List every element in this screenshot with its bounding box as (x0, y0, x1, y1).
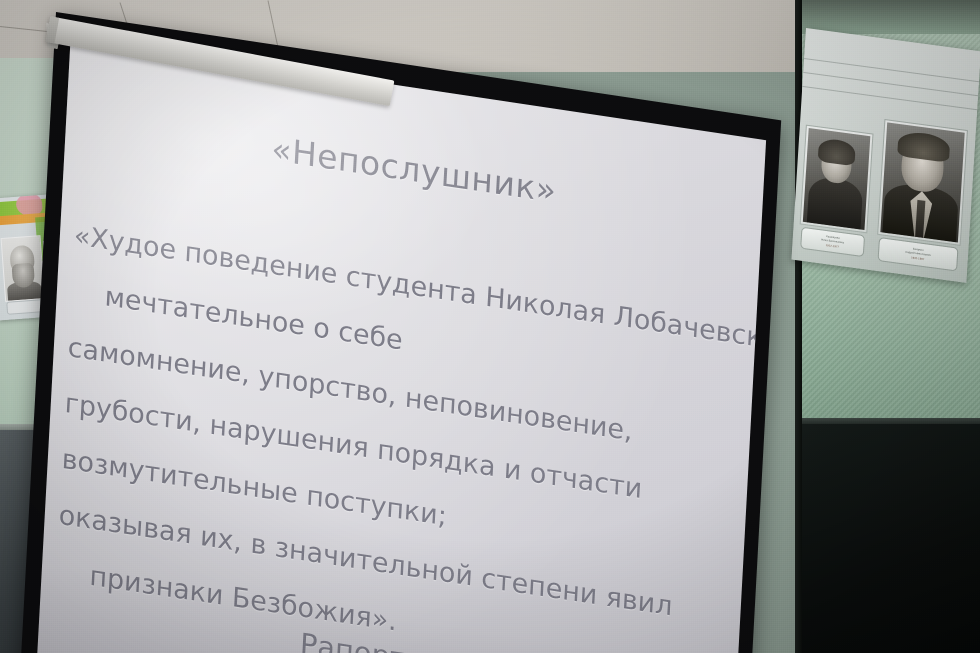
portrait-photo-man (880, 122, 964, 242)
board-groove (804, 58, 979, 82)
slide-body: «Худое поведение студента Николая Лобаче… (54, 208, 761, 653)
plaque-years: 1932-1987 (911, 256, 924, 261)
board-groove (802, 86, 977, 110)
portrait-frame-woman (800, 125, 874, 234)
portrait-frame-man (877, 119, 968, 246)
classroom-photo: Казанцева Нина Васильевна 1912-1977 Бояр… (0, 0, 980, 653)
portrait-hair (818, 137, 856, 166)
presentation-slide: «Непослушник» «Худое поведение студента … (34, 36, 766, 653)
right-wall-upper-shadow (796, 0, 980, 34)
portrait-photo-woman (803, 128, 871, 230)
projection-screen-surface: «Непослушник» «Худое поведение студента … (34, 36, 766, 653)
right-blackboard (800, 424, 980, 653)
slide-title: «Непослушник» (65, 98, 763, 241)
board-groove (803, 72, 978, 96)
portrait-body (807, 175, 864, 229)
plaque-years: 1912-1977 (826, 244, 839, 249)
projection-screen[interactable]: «Непослушник» «Худое поведение студента … (18, 12, 781, 653)
portrait-honour-board: Казанцева Нина Васильевна 1912-1977 Бояр… (791, 28, 980, 283)
scholar-portrait-image (1, 235, 46, 302)
